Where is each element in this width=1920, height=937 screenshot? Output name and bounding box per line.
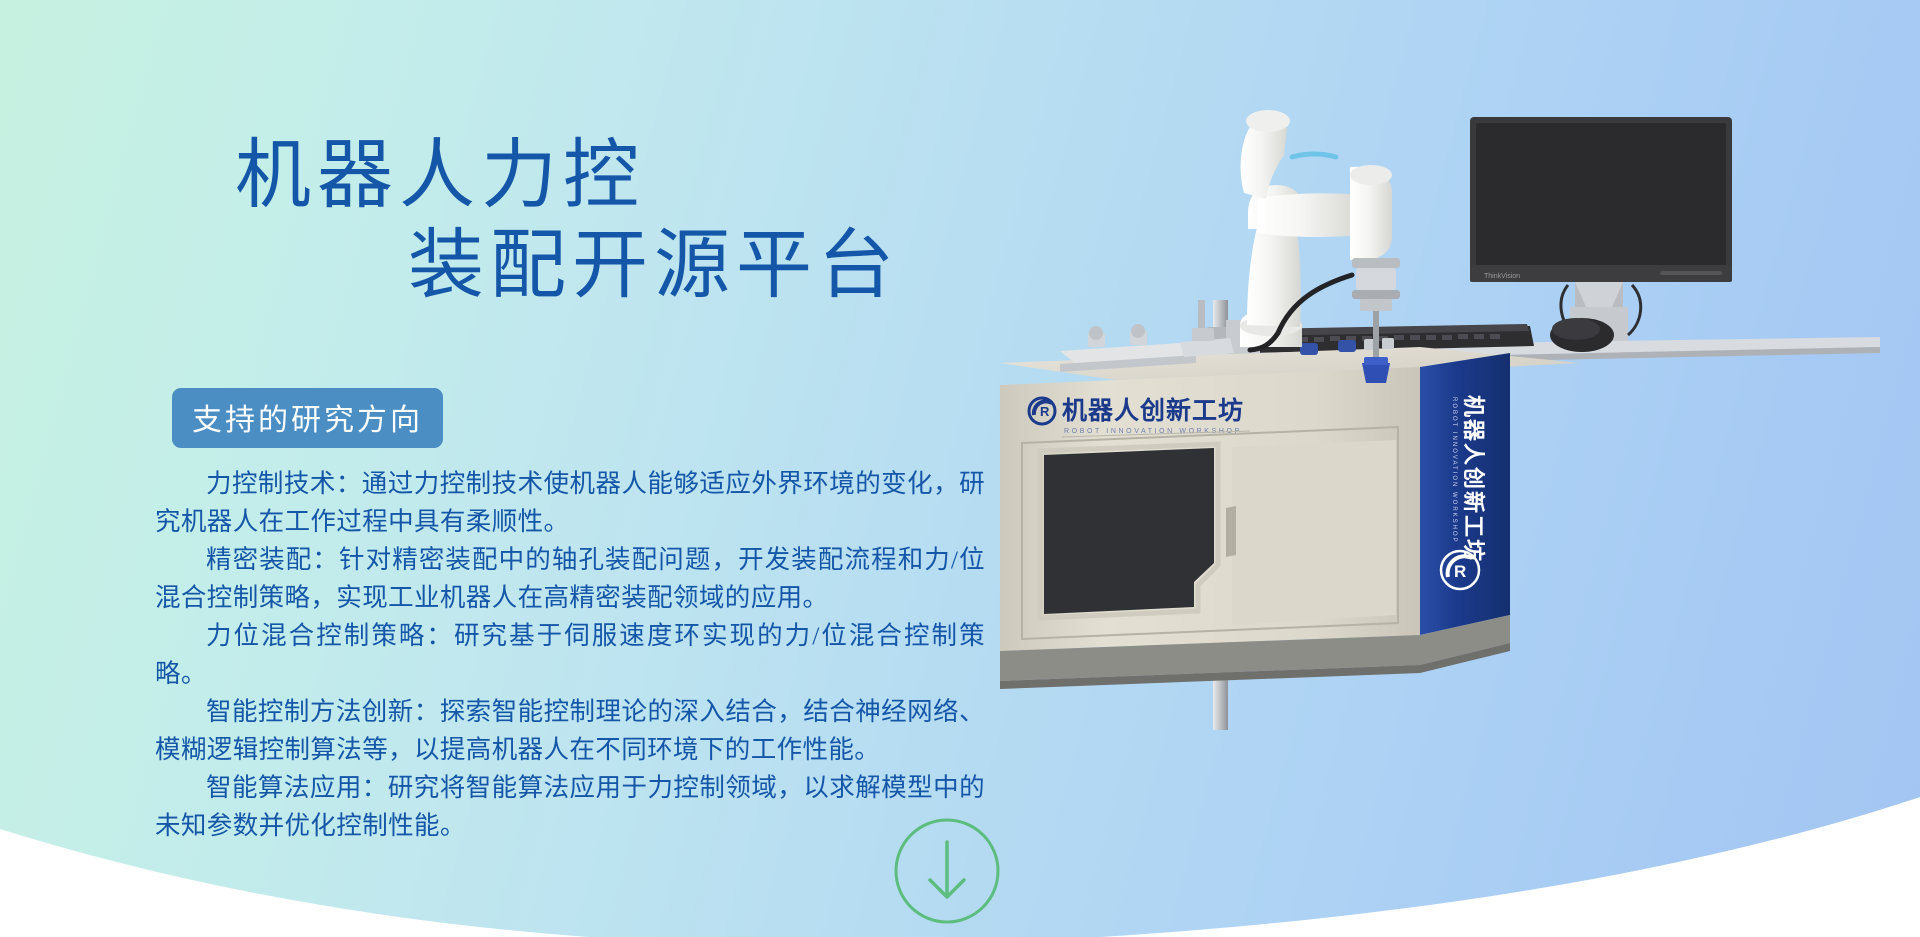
paragraph-intelligent-control: 智能控制方法创新：探索智能控制理论的深入结合，结合神经网络、模糊逻辑控制算法等，…	[155, 693, 985, 769]
title-line-2: 装配开源平台	[0, 222, 1000, 312]
paragraph-hybrid-control: 力位混合控制策略：研究基于伺服速度环实现的力/位混合控制策略。	[155, 617, 985, 693]
cabinet-logo-cn: 机器人创新工坊	[1062, 396, 1244, 425]
svg-text:ROBOT INNOVATION WORKSHOP: ROBOT INNOVATION WORKSHOP	[1451, 397, 1457, 544]
page-title: 机器人力控 装配开源平台	[0, 132, 1000, 311]
research-directions-badge: 支持的研究方向	[172, 388, 443, 448]
svg-text:机器人创新工坊: 机器人创新工坊	[1461, 395, 1486, 563]
paragraph-force-control: 力控制技术：通过力控制技术使机器人能够适应外界环境的变化，研究机器人在工作过程中…	[155, 465, 985, 541]
robot-assembly-platform-image: ThinkVision	[1000, 95, 1920, 815]
paragraph-intelligent-algorithm: 智能算法应用：研究将智能算法应用于力控制领域，以求解模型中的未知参数并优化控制性…	[155, 769, 985, 845]
machine-cabinet: R 机器人创新工坊 ROBOT INNOVATION WORKSHOP	[1000, 347, 1580, 689]
monitor: ThinkVision	[1470, 117, 1732, 353]
side-panel-logo: 机器人创新工坊 ROBOT INNOVATION WORKSHOP	[1451, 395, 1486, 563]
paragraph-precision-assembly: 精密装配：针对精密装配中的轴孔装配问题，开发装配流程和力/位混合控制策略，实现工…	[155, 541, 985, 617]
title-line-1: 机器人力控	[0, 132, 1000, 222]
hero-content: 机器人力控 装配开源平台 支持的研究方向 力控制技术：通过力控制技术使机器人能够…	[0, 0, 1010, 937]
svg-text:R: R	[1040, 404, 1050, 419]
research-directions-list: 力控制技术：通过力控制技术使机器人能够适应外界环境的变化，研究机器人在工作过程中…	[155, 465, 985, 845]
section-badge-wrapper: 支持的研究方向	[172, 388, 443, 448]
svg-text:ThinkVision: ThinkVision	[1484, 273, 1520, 280]
arrow-down-circle-icon[interactable]	[888, 812, 1006, 930]
svg-text:R: R	[1454, 562, 1466, 581]
